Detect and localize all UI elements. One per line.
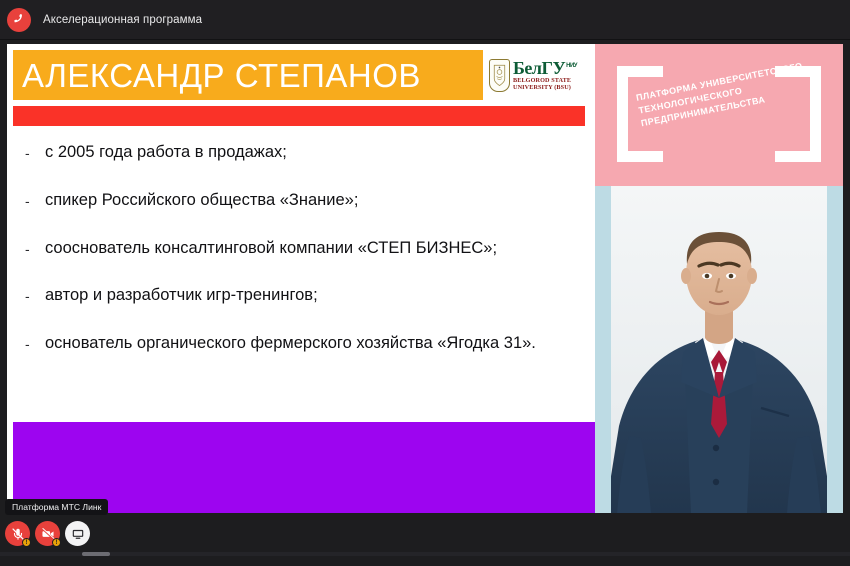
university-logo-text: БелГУ НИУ BELGOROD STATE UNIVERSITY (BSU… [513, 59, 576, 91]
slide-bullet-list: - с 2005 года работа в продажах; - спике… [25, 142, 573, 381]
slide-title-band: АЛЕКСАНДР СТЕПАНОВ [13, 50, 483, 100]
call-controls: ! ! [5, 521, 90, 546]
bullet-text: основатель органического фермерского хоз… [45, 333, 573, 355]
crest-icon [489, 59, 510, 92]
microphone-muted-button[interactable]: ! [5, 521, 30, 546]
conference-title: Акселерационная программа [43, 14, 202, 26]
bullet-text: сооснователь консалтинговой компании «СТ… [45, 238, 573, 260]
warning-badge: ! [22, 538, 31, 547]
bullet-text: автор и разработчик игр-тренингов; [45, 285, 573, 307]
warning-badge: ! [52, 538, 61, 547]
monitor-icon [71, 527, 85, 541]
list-item: - автор и разработчик игр-тренингов; [25, 285, 573, 307]
bullet-marker: - [25, 238, 45, 258]
slide-accent-bar [13, 106, 585, 126]
list-item: - спикер Российского общества «Знание»; [25, 190, 573, 212]
platform-label: Платформа МТС Линк [5, 499, 108, 515]
shared-screen-stage[interactable]: АЛЕКСАНДР СТЕПАНОВ БелГУ НИУ [0, 40, 850, 513]
list-item: - с 2005 года работа в продажах; [25, 142, 573, 164]
slide-left-column: АЛЕКСАНДР СТЕПАНОВ БелГУ НИУ [7, 44, 589, 514]
conference-top-bar: Акселерационная программа [0, 0, 850, 40]
speaker-photo [595, 186, 843, 514]
logo-subtitle-line2: UNIVERSITY (BSU) [513, 85, 576, 91]
slide-title: АЛЕКСАНДР СТЕПАНОВ [13, 59, 421, 92]
conference-bottom-bar: Платформа МТС Линк ! [0, 513, 850, 566]
horizontal-scrollbar[interactable] [0, 552, 850, 556]
slide-right-column: ПЛАТФОРМА УНИВЕРСИТЕТСКОГО ТЕХНОЛОГИЧЕСК… [595, 44, 843, 514]
bullet-marker: - [25, 142, 45, 162]
logo-superscript: НИУ [566, 63, 577, 69]
portrait-illustration [611, 186, 827, 514]
camera-off-button[interactable]: ! [35, 521, 60, 546]
bullet-marker: - [25, 285, 45, 305]
bullet-text: с 2005 года работа в продажах; [45, 142, 573, 164]
platform-branding-panel: ПЛАТФОРМА УНИВЕРСИТЕТСКОГО ТЕХНОЛОГИЧЕСК… [595, 44, 843, 186]
scrollbar-thumb[interactable] [82, 552, 110, 556]
presentation-slide: АЛЕКСАНДР СТЕПАНОВ БелГУ НИУ [7, 44, 843, 514]
end-call-icon [12, 12, 27, 27]
university-logo: БелГУ НИУ BELGOROD STATE UNIVERSITY (BSU… [485, 50, 585, 100]
list-item: - основатель органического фермерского х… [25, 333, 573, 355]
list-item: - сооснователь консалтинговой компании «… [25, 238, 573, 260]
bullet-marker: - [25, 333, 45, 353]
end-call-button[interactable] [7, 8, 31, 32]
logo-wordmark: БелГУ НИУ [513, 59, 576, 77]
bullet-marker: - [25, 190, 45, 210]
photo-left-band [595, 186, 611, 514]
logo-main-text: БелГУ [513, 59, 565, 77]
photo-right-band [827, 186, 843, 514]
bullet-text: спикер Российского общества «Знание»; [45, 190, 573, 212]
screen-share-button[interactable] [65, 521, 90, 546]
